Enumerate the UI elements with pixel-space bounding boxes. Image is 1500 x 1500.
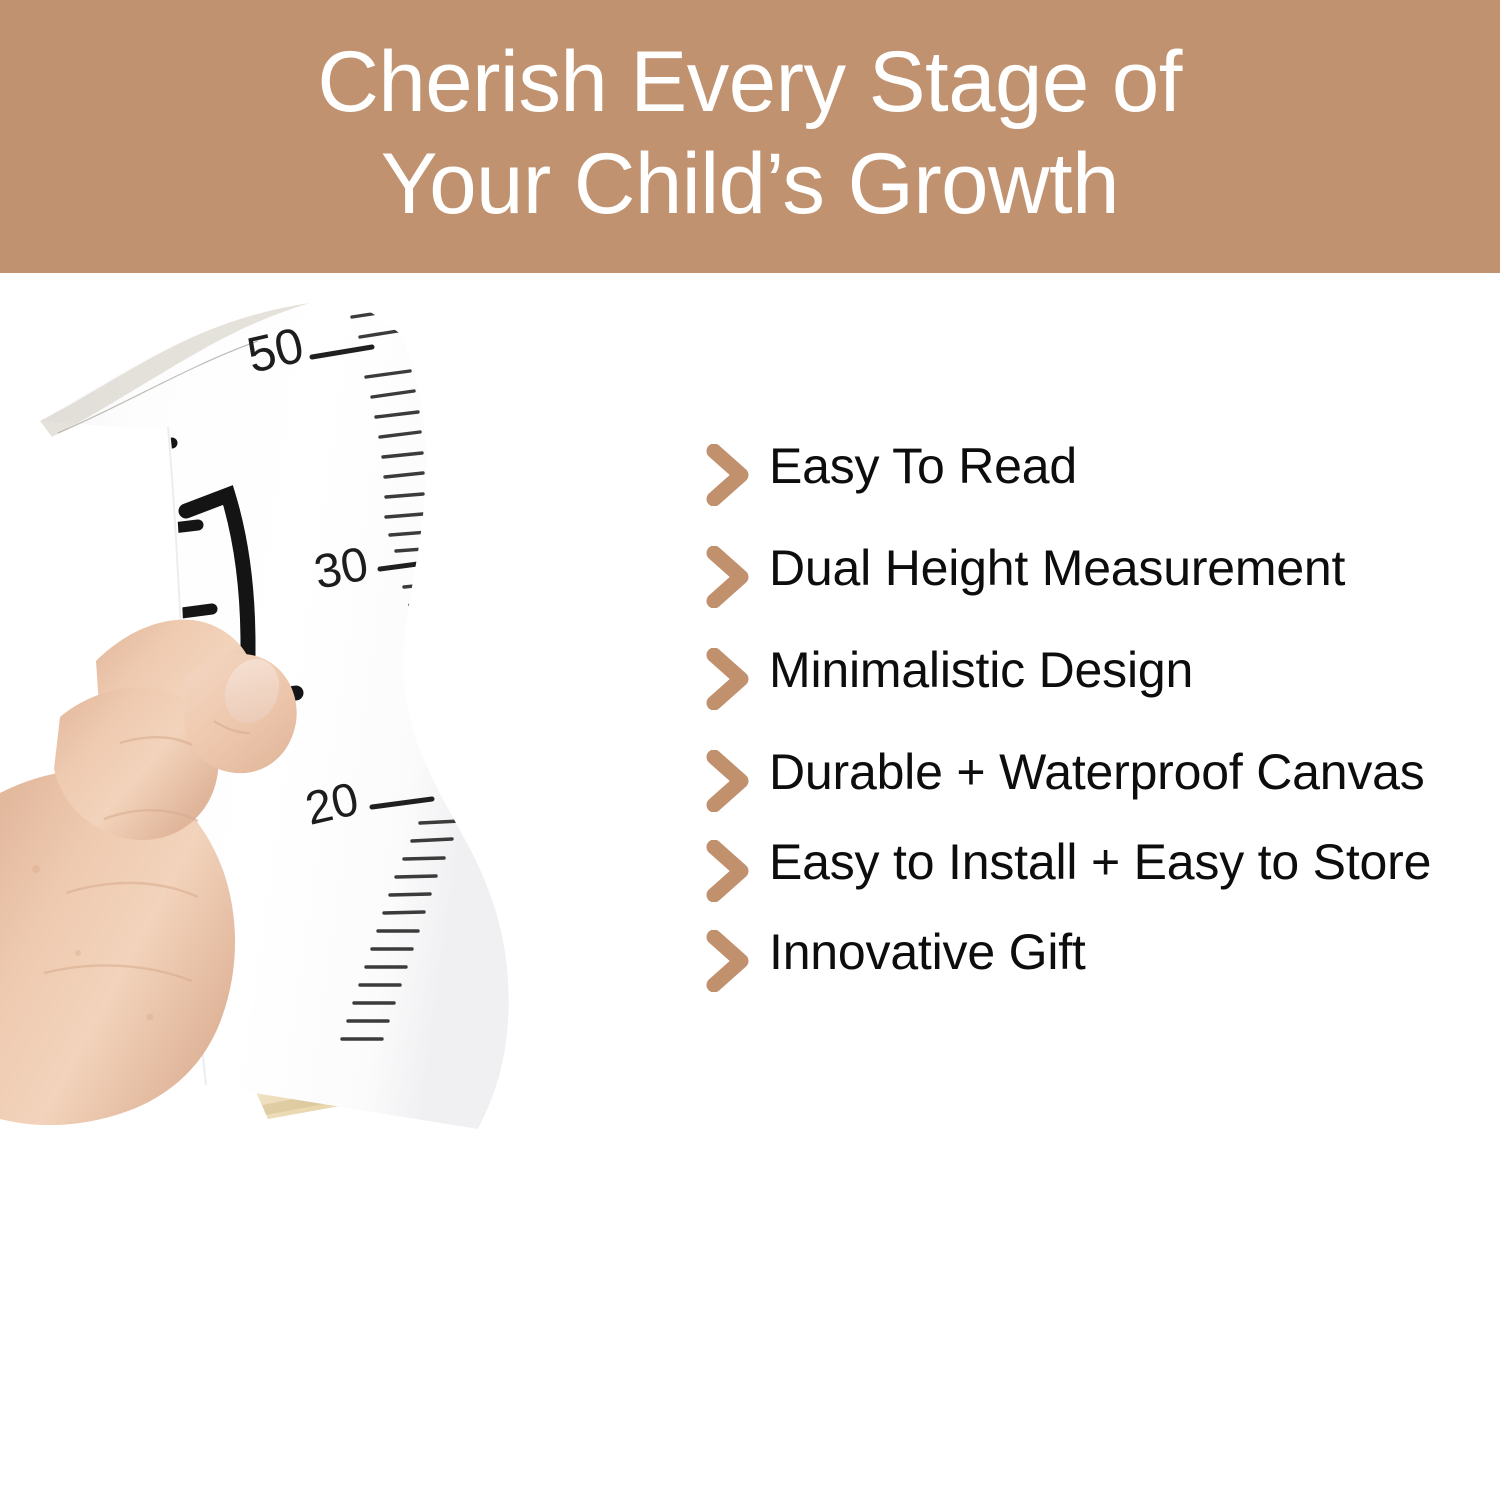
feature-item-easy-to-install-and-store: Easy to Install + Easy to Store (705, 834, 1495, 902)
feature-label: Easy to Install + Easy to Store (769, 834, 1431, 890)
feature-label: Easy To Read (769, 438, 1077, 494)
feature-label: Durable + Waterproof Canvas (769, 744, 1425, 800)
header-banner: Cherish Every Stage of Your Child’s Grow… (0, 0, 1500, 273)
feature-item-durable-waterproof-canvas: Durable + Waterproof Canvas (705, 744, 1495, 812)
banner-title-line-2: Your Child’s Growth (381, 134, 1119, 235)
feature-label: Dual Height Measurement (769, 540, 1345, 596)
ruler-number-30: 30 (310, 538, 373, 600)
chevron-right-icon (705, 750, 751, 812)
feature-list: Easy To Read Dual Height Measurement Min… (705, 438, 1495, 1026)
chevron-right-icon (705, 648, 751, 710)
banner-title-line-1: Cherish Every Stage of (318, 32, 1183, 133)
feature-label: Innovative Gift (769, 924, 1086, 980)
chevron-right-icon (705, 930, 751, 992)
chevron-right-icon (705, 840, 751, 902)
product-image: 50 30 20 (0, 273, 700, 1273)
feature-item-innovative-gift: Innovative Gift (705, 924, 1495, 992)
feature-item-dual-height-measurement: Dual Height Measurement (705, 540, 1495, 608)
chevron-right-icon (705, 444, 751, 506)
feature-item-easy-to-read: Easy To Read (705, 438, 1495, 506)
feature-label: Minimalistic Design (769, 642, 1193, 698)
feature-item-minimalistic-design: Minimalistic Design (705, 642, 1495, 710)
chevron-right-icon (705, 546, 751, 608)
main-content: 50 30 20 (0, 273, 1500, 1500)
